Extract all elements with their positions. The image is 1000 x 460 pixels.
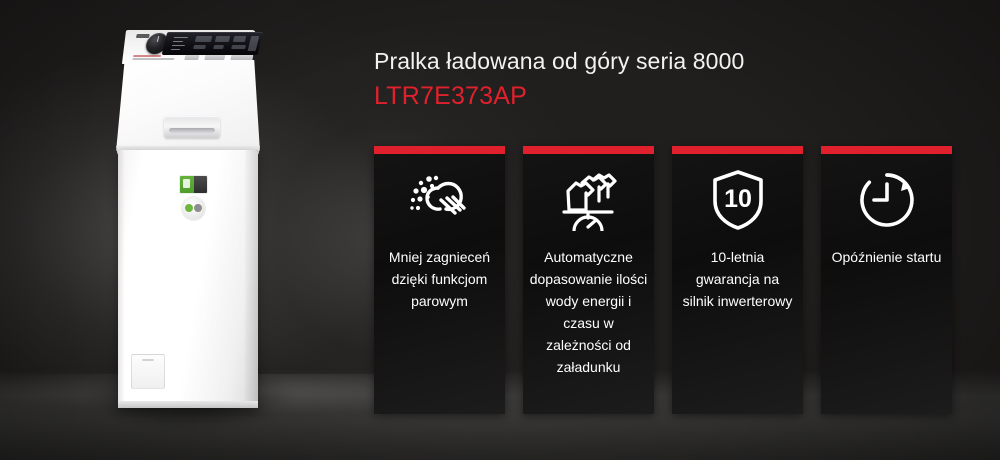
clock-delay-start-icon (821, 154, 952, 246)
feature-card-steam[interactable]: Mniej zagnieceń dzięki funkcjom parowym (374, 146, 505, 414)
laundry-on-scale-icon (523, 154, 654, 246)
product-image-washing-machine (112, 30, 264, 415)
shield-10-years-icon: 10 (672, 154, 803, 246)
top-lid-surface (116, 60, 260, 152)
lid-handle (164, 116, 220, 138)
card-accent-bar (523, 146, 654, 154)
body-left-shading (118, 150, 125, 408)
product-banner: Pralka ładowana od góry seria 8000 LTR7E… (0, 0, 1000, 460)
eco-badge-sticker (182, 197, 205, 220)
content-column: Pralka ładowana od góry seria 8000 LTR7E… (374, 0, 974, 460)
feature-card-text: 10-letnia gwarancja na silnik inwerterow… (679, 246, 797, 312)
feature-card-warranty[interactable]: 10 10-letnia gwarancja na silnik inwerte… (672, 146, 803, 414)
filter-access-door (131, 354, 165, 389)
machine-body (118, 150, 258, 408)
card-accent-bar (374, 146, 505, 154)
page-title: Pralka ładowana od góry seria 8000 (374, 48, 744, 75)
product-model-code: LTR7E373AP (374, 82, 527, 111)
energy-label-sticker (180, 176, 207, 193)
body-base-trim (118, 401, 258, 408)
feature-card-auto-dosing[interactable]: Automatyczne dopasowanie ilości wody ene… (523, 146, 654, 414)
control-panel-display (162, 32, 264, 55)
feature-card-list: Mniej zagnieceń dzięki funkcjom parowym (374, 146, 952, 414)
feature-card-delay-start[interactable]: Opóźnienie startu (821, 146, 952, 414)
steam-garment-icon (374, 154, 505, 246)
control-panel (122, 30, 256, 64)
card-accent-bar (821, 146, 952, 154)
feature-card-text: Mniej zagnieceń dzięki funkcjom parowym (381, 246, 499, 312)
feature-card-text: Automatyczne dopasowanie ilości wody ene… (530, 246, 648, 378)
feature-card-text: Opóźnienie startu (828, 246, 946, 268)
brand-logo-mark (136, 34, 150, 38)
card-accent-bar (672, 146, 803, 154)
body-right-shading (245, 150, 258, 408)
svg-text:10: 10 (724, 185, 752, 213)
